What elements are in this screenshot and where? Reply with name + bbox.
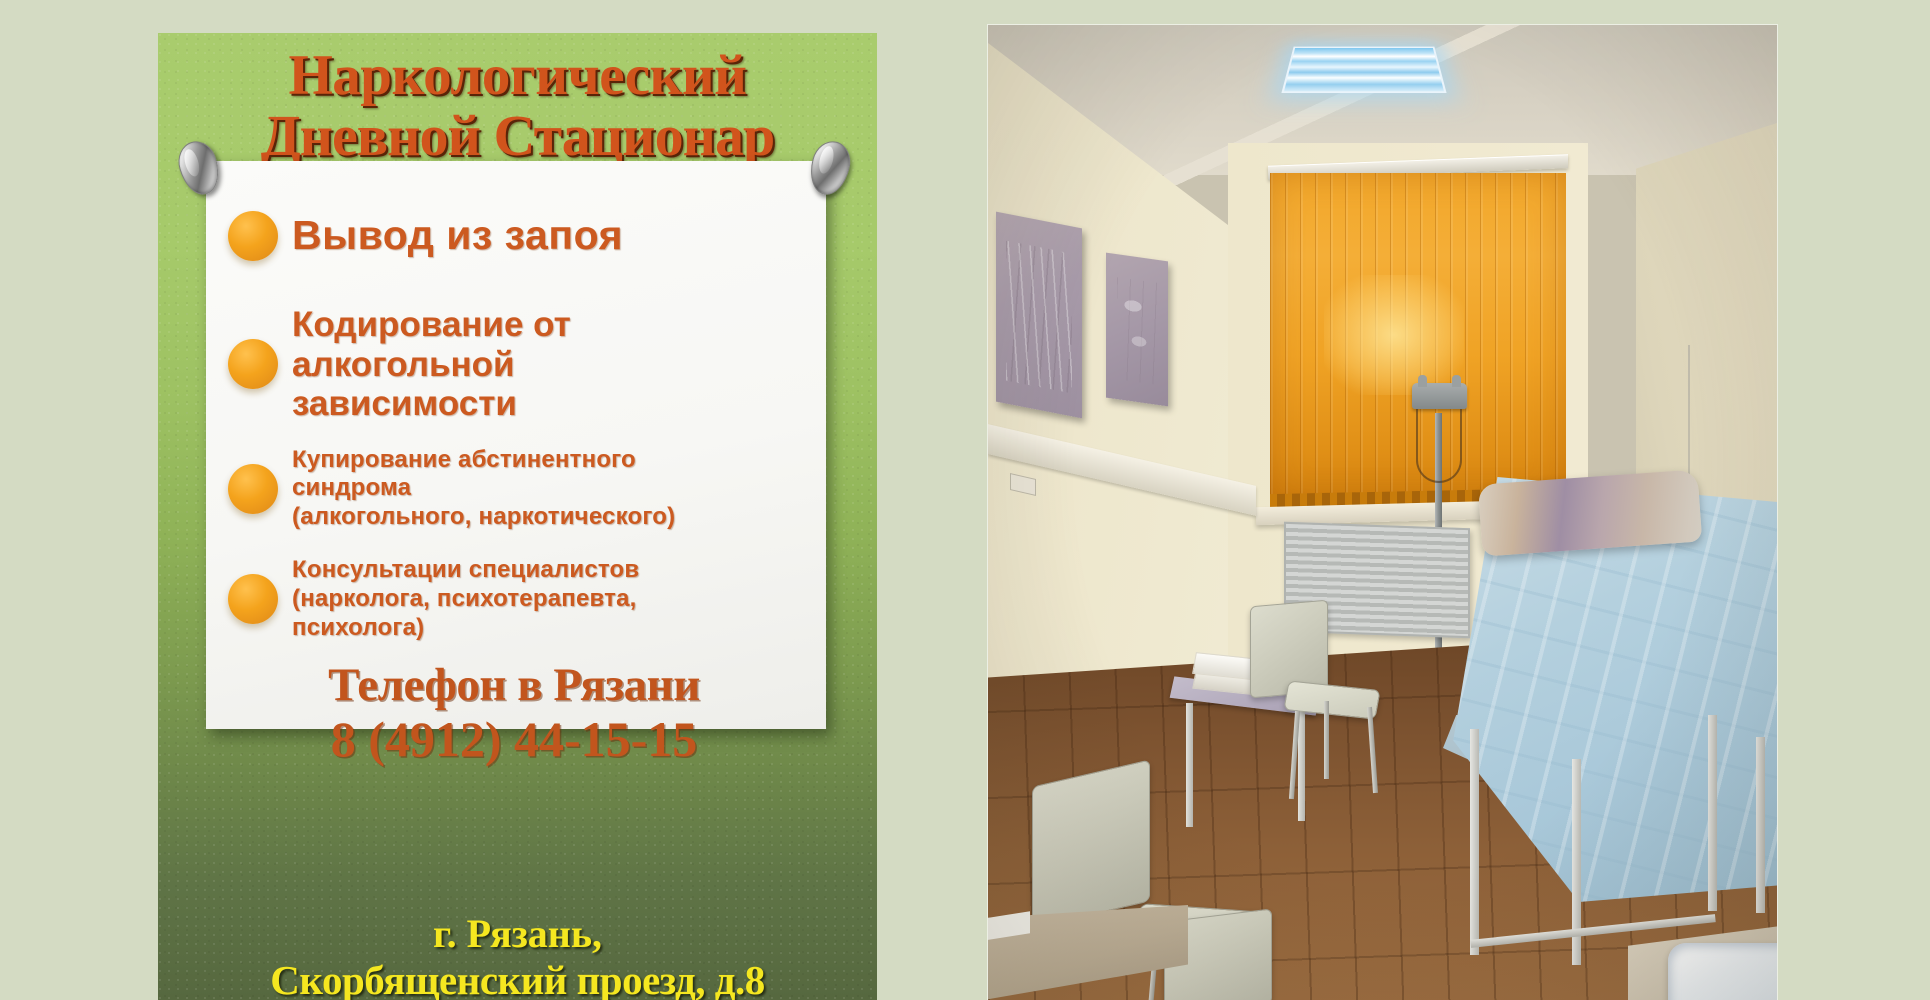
iv-stand-tubing [1416,409,1462,483]
clinic-room-photo [988,25,1777,1000]
service-item-4: Консультации специалистов (нарколога, пс… [220,556,808,642]
lavender-wall-canvas [996,212,1082,419]
services-card: Вывод из запоя Кодирование от алкогольно… [206,161,826,729]
service-item-4-line-1: Консультации специалистов [292,556,639,585]
address-line-1: г. Рязань, [158,911,877,957]
poster-title: Наркологический Дневной Стационар [158,33,877,165]
service-item-3: Купирование абстинентного синдрома (алко… [220,446,808,532]
poster-title-line-2: Дневной Стационар [158,106,877,166]
clinic-poster: Наркологический Дневной Стационар Вывод … [158,33,877,1000]
service-item-3-label: Купирование абстинентного синдрома (алко… [292,446,675,532]
poster-title-line-1: Наркологический [158,47,877,106]
exam-couch-legs [1456,715,1766,965]
bullet-dot-icon [228,464,278,514]
phone-block: Телефон в Рязани 8 (4912) 44-15-15 [220,660,808,768]
service-item-4-line-3: психолога) [292,614,639,643]
service-item-2-line-1: Кодирование от [292,305,571,345]
bullet-dot-icon [228,574,278,624]
ceiling-light-icon [1281,47,1446,93]
service-item-3-line-3: (алкогольного, наркотического) [292,503,675,532]
flower-wall-canvas [1106,253,1168,407]
service-item-2-label: Кодирование от алкогольной зависимости [292,305,571,424]
service-item-1-label: Вывод из запоя [292,213,623,258]
phone-number[interactable]: 8 (4912) 44-15-15 [220,711,808,768]
service-item-2-line-2: алкогольной [292,345,571,385]
iv-stand-hook-icon [1412,383,1467,409]
address-line-2: Скорбященский проезд, д.8 [158,957,877,1000]
service-item-4-line-2: (нарколога, психотерапевта, [292,585,639,614]
patterned-pillow [1478,469,1702,556]
bullet-dot-icon [228,339,278,389]
chair-leg [1324,701,1329,779]
service-item-1: Вывод из запоя [220,211,808,261]
phone-label: Телефон в Рязани [220,660,808,711]
service-item-2: Кодирование от алкогольной зависимости [220,305,808,424]
service-item-3-line-2: синдрома [292,474,675,503]
side-table-leg [1186,703,1193,827]
service-item-2-line-3: зависимости [292,384,571,424]
service-item-3-line-1: Купирование абстинентного [292,446,675,475]
service-item-4-label: Консультации специалистов (нарколога, пс… [292,556,639,642]
clinic-address: г. Рязань, Скорбященский проезд, д.8 [158,911,877,1000]
window-light-glow [1324,275,1464,395]
bullet-dot-icon [228,211,278,261]
chair-backrest [1032,759,1150,928]
wash-basin [1668,943,1777,1000]
slide-canvas: Наркологический Дневной Стационар Вывод … [0,0,1930,1000]
